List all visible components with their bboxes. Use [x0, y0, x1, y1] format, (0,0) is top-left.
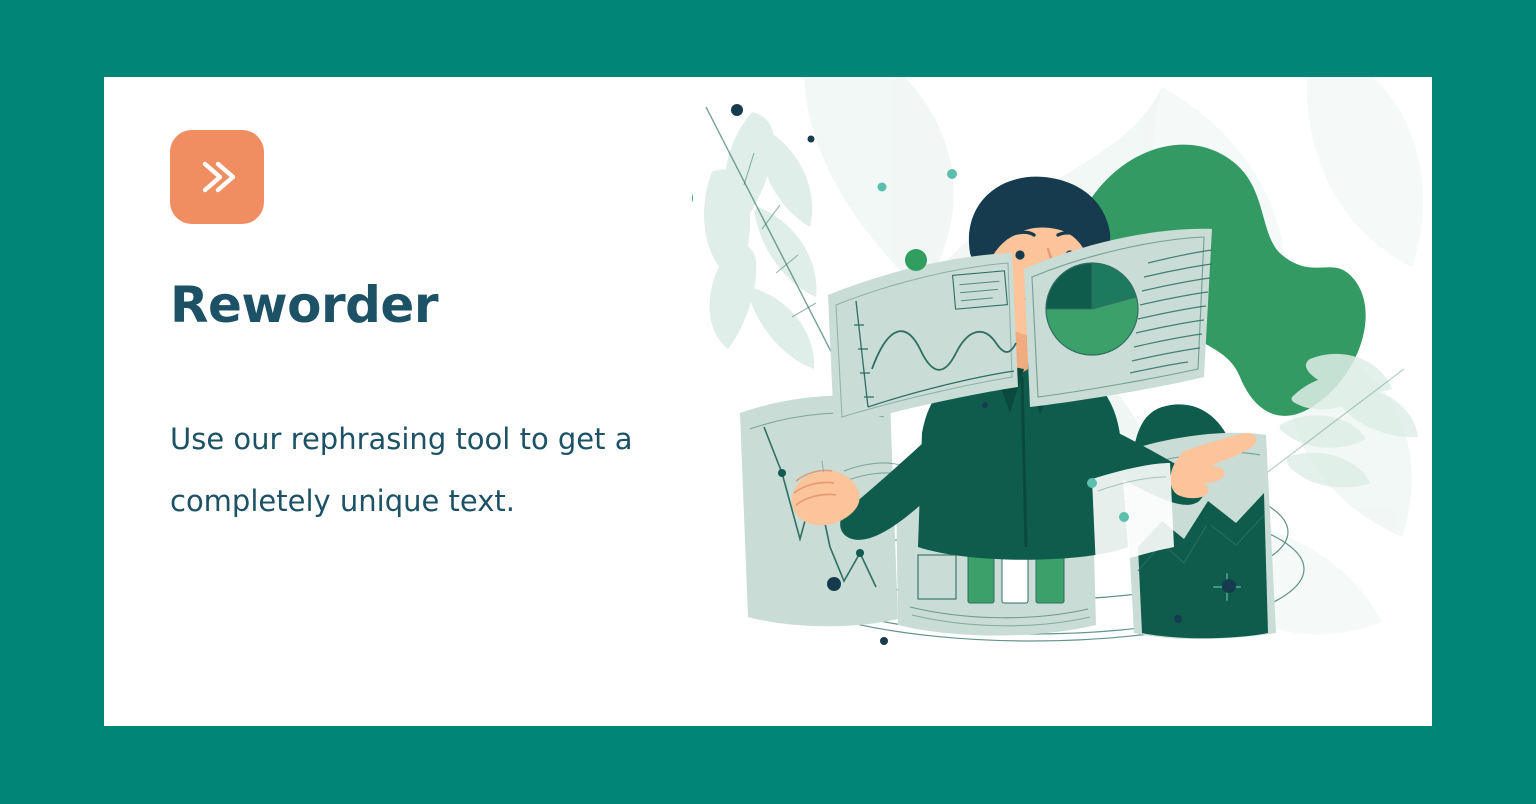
double-chevron-right-icon: [195, 155, 239, 199]
page-subtitle: Use our rephrasing tool to get a complet…: [170, 408, 715, 532]
feature-card: Reworder Use our rephrasing tool to get …: [104, 77, 1432, 726]
text-column: Reworder Use our rephrasing tool to get …: [170, 77, 770, 726]
page-root: Reworder Use our rephrasing tool to get …: [0, 0, 1536, 804]
illustration: [692, 77, 1432, 726]
page-title: Reworder: [170, 280, 438, 330]
app-icon[interactable]: [170, 130, 264, 224]
